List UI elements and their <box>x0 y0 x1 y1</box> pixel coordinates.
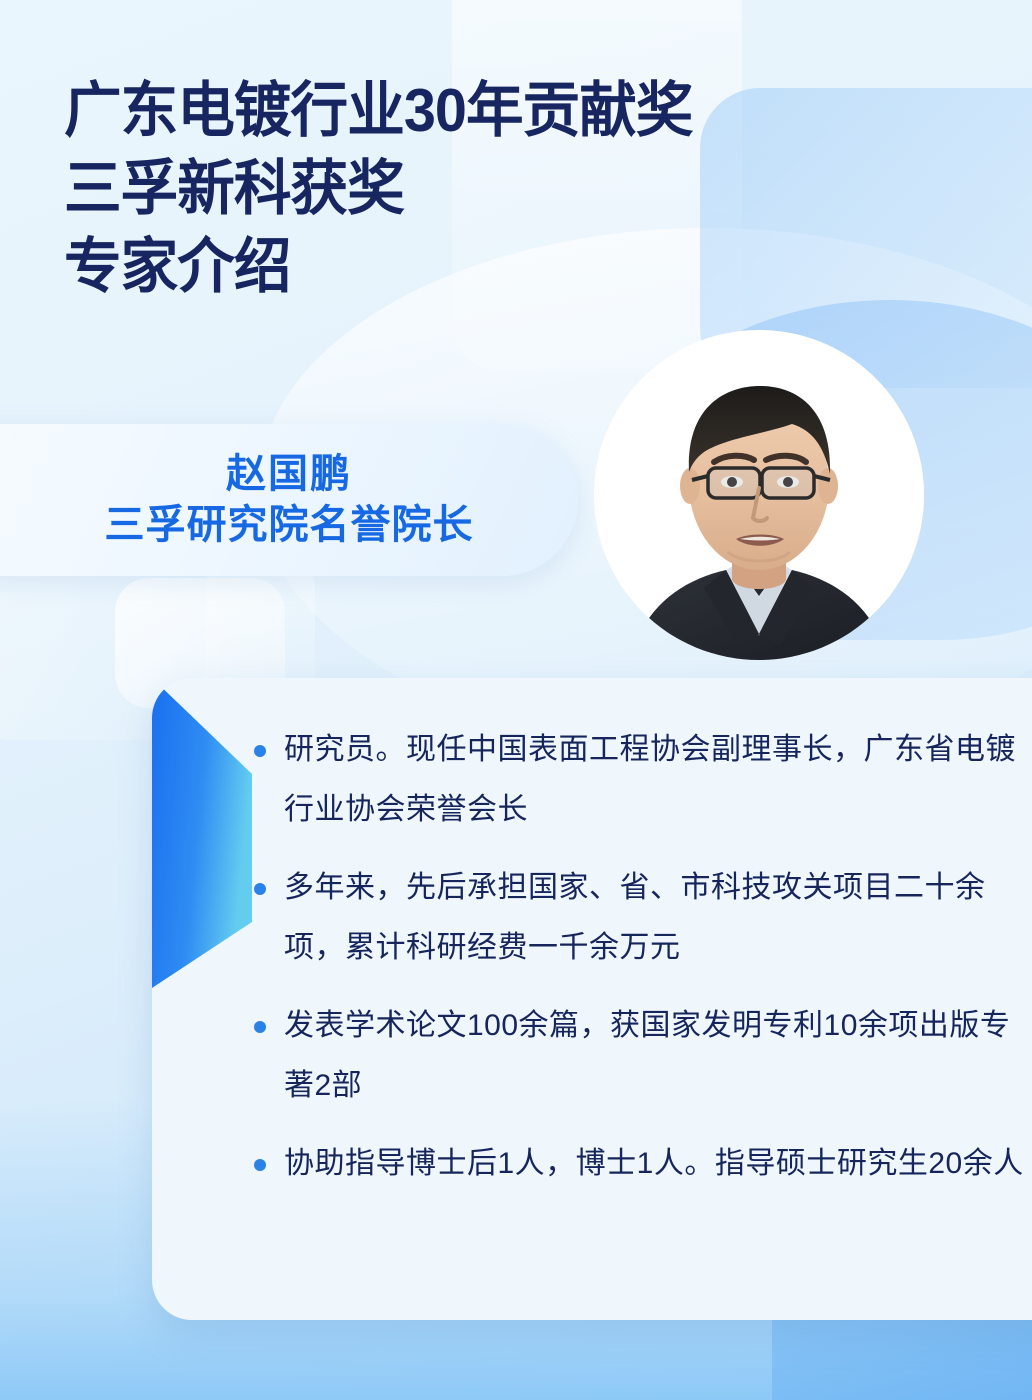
ribbon-tab <box>152 678 270 988</box>
bullet-dot-icon <box>254 1159 266 1171</box>
list-item: 多年来，先后承担国家、省、市科技攻关项目二十余项，累计科研经费一千余万元 <box>248 858 1032 978</box>
portrait-image <box>586 334 932 686</box>
title-line-3: 专家介绍 <box>64 228 851 306</box>
bullet-list: 研究员。现任中国表面工程协会副理事长，广东省电镀行业协会荣誉会长 多年来，先后承… <box>248 720 1032 1194</box>
expert-position: 三孚研究院名誉院长 <box>105 499 474 551</box>
title-line-1: 广东电镀行业30年贡献奖 <box>64 72 851 150</box>
list-item-text: 协助指导博士后1人，博士1人。指导硕士研究生20余人 <box>284 1147 1024 1180</box>
list-item-text: 发表学术论文100余篇，获国家发明专利10余项出版专著2部 <box>284 1009 1010 1102</box>
bullet-dot-icon <box>254 1021 266 1033</box>
poster-title: 广东电镀行业30年贡献奖 三孚新科获奖 专家介绍 <box>64 72 884 306</box>
list-item: 研究员。现任中国表面工程协会副理事长，广东省电镀行业协会荣誉会长 <box>248 720 1032 840</box>
expert-info-card: 专家介绍 研究员。现任中国表面工程协会副理事长，广东省电镀行业协会荣誉会长 多年… <box>152 678 1032 1320</box>
name-card: 赵国鹏 三孚研究院名誉院长 <box>0 424 578 576</box>
list-item: 协助指导博士后1人，博士1人。指导硕士研究生20余人 <box>248 1134 1032 1194</box>
expert-name: 赵国鹏 <box>226 449 352 499</box>
ribbon-shape-icon <box>152 678 270 988</box>
portrait <box>594 330 924 680</box>
list-item: 发表学术论文100余篇，获国家发明专利10余项出版专著2部 <box>248 996 1032 1116</box>
poster-root: 广东电镀行业30年贡献奖 三孚新科获奖 专家介绍 <box>0 0 1032 1400</box>
title-line-2: 三孚新科获奖 <box>64 150 851 228</box>
list-item-text: 多年来，先后承担国家、省、市科技攻关项目二十余项，累计科研经费一千余万元 <box>284 871 986 964</box>
list-item-text: 研究员。现任中国表面工程协会副理事长，广东省电镀行业协会荣誉会长 <box>284 733 1016 826</box>
